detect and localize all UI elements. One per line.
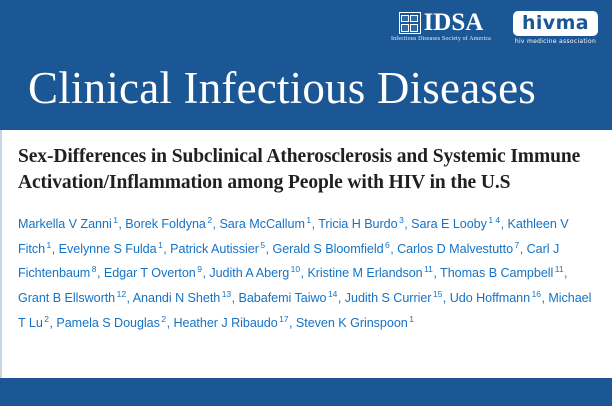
author-link[interactable]: Heather J Ribaudo	[173, 316, 277, 330]
author-separator: ,	[520, 242, 527, 256]
author-affiliation-marker[interactable]: 11	[553, 264, 564, 274]
author-link[interactable]: Borek Foldyna	[125, 217, 206, 231]
author-separator: ,	[97, 267, 104, 281]
author-separator: ,	[232, 291, 239, 305]
author-affiliation-marker[interactable]: 16	[530, 289, 541, 299]
author-affiliation-marker[interactable]: 1	[305, 215, 312, 225]
author-separator: ,	[443, 291, 450, 305]
hivma-wordmark: hivma	[522, 12, 589, 34]
author-affiliation-marker[interactable]: 2	[160, 314, 167, 324]
author-separator: ,	[338, 291, 345, 305]
author-link[interactable]: Judith S Currier	[345, 291, 432, 305]
author-affiliation-marker[interactable]: 1	[45, 240, 52, 250]
idsa-tagline: Infectious Diseases Society of America	[391, 36, 491, 42]
author-separator: ,	[289, 316, 296, 330]
author-affiliation-marker[interactable]: 14	[326, 289, 337, 299]
author-affiliation-marker[interactable]: 1 4	[487, 215, 501, 225]
author-link[interactable]: Patrick Autissier	[170, 242, 259, 256]
idsa-logo-top: IDSA	[399, 11, 484, 35]
author-separator: ,	[52, 242, 59, 256]
idsa-wordmark: IDSA	[424, 11, 484, 35]
author-affiliation-marker[interactable]: 13	[220, 289, 231, 299]
author-link[interactable]: Anandi N Sheth	[133, 291, 221, 305]
author-list: Markella V Zanni1, Borek Foldyna2, Sara …	[18, 210, 596, 333]
author-link[interactable]: Grant B Ellsworth	[18, 291, 115, 305]
author-affiliation-marker[interactable]: 1	[408, 314, 415, 324]
author-separator: ,	[564, 267, 567, 281]
author-affiliation-marker[interactable]: 12	[115, 289, 126, 299]
author-link[interactable]: Babafemi Taiwo	[239, 291, 327, 305]
hivma-logo[interactable]: hivma hiv medicine association	[513, 8, 598, 45]
author-affiliation-marker[interactable]: 5	[259, 240, 266, 250]
footer-band	[0, 378, 612, 406]
idsa-logo[interactable]: IDSA Infectious Diseases Society of Amer…	[391, 8, 491, 42]
idsa-crest-icon	[399, 12, 421, 34]
author-link[interactable]: Pamela S Douglas	[56, 316, 160, 330]
journal-title: Clinical Infectious Diseases	[28, 62, 536, 114]
author-link[interactable]: Sara E Looby	[411, 217, 487, 231]
author-link[interactable]: Edgar T Overton	[104, 267, 196, 281]
author-affiliation-marker[interactable]: 17	[278, 314, 289, 324]
author-link[interactable]: Kristine M Erlandson	[307, 267, 422, 281]
author-link[interactable]: Markella V Zanni	[18, 217, 112, 231]
author-affiliation-marker[interactable]: 2	[206, 215, 213, 225]
author-affiliation-marker[interactable]: 7	[513, 240, 520, 250]
article-card: Sex-Differences in Subclinical Atheroscl…	[0, 130, 612, 378]
hivma-tagline: hiv medicine association	[515, 38, 596, 45]
author-link[interactable]: Sara McCallum	[219, 217, 304, 231]
author-affiliation-marker[interactable]: 10	[289, 264, 300, 274]
author-link[interactable]: Steven K Grinspoon	[296, 316, 408, 330]
author-affiliation-marker[interactable]: 15	[431, 289, 442, 299]
journal-header-banner: IDSA Infectious Diseases Society of Amer…	[0, 0, 612, 130]
author-link[interactable]: Tricia H Burdo	[318, 217, 397, 231]
author-link[interactable]: Gerald S Bloomfield	[272, 242, 383, 256]
author-affiliation-marker[interactable]: 8	[90, 264, 97, 274]
author-link[interactable]: Evelynne S Fulda	[59, 242, 157, 256]
author-link[interactable]: Thomas B Campbell	[440, 267, 553, 281]
hivma-logo-box: hivma	[513, 11, 598, 36]
author-link[interactable]: Carlos D Malvestutto	[397, 242, 513, 256]
author-link[interactable]: Judith A Aberg	[209, 267, 289, 281]
author-affiliation-marker[interactable]: 11	[423, 264, 434, 274]
author-link[interactable]: Udo Hoffmann	[450, 291, 530, 305]
article-title: Sex-Differences in Subclinical Atheroscl…	[18, 144, 594, 196]
publisher-logos: IDSA Infectious Diseases Society of Amer…	[391, 8, 598, 45]
